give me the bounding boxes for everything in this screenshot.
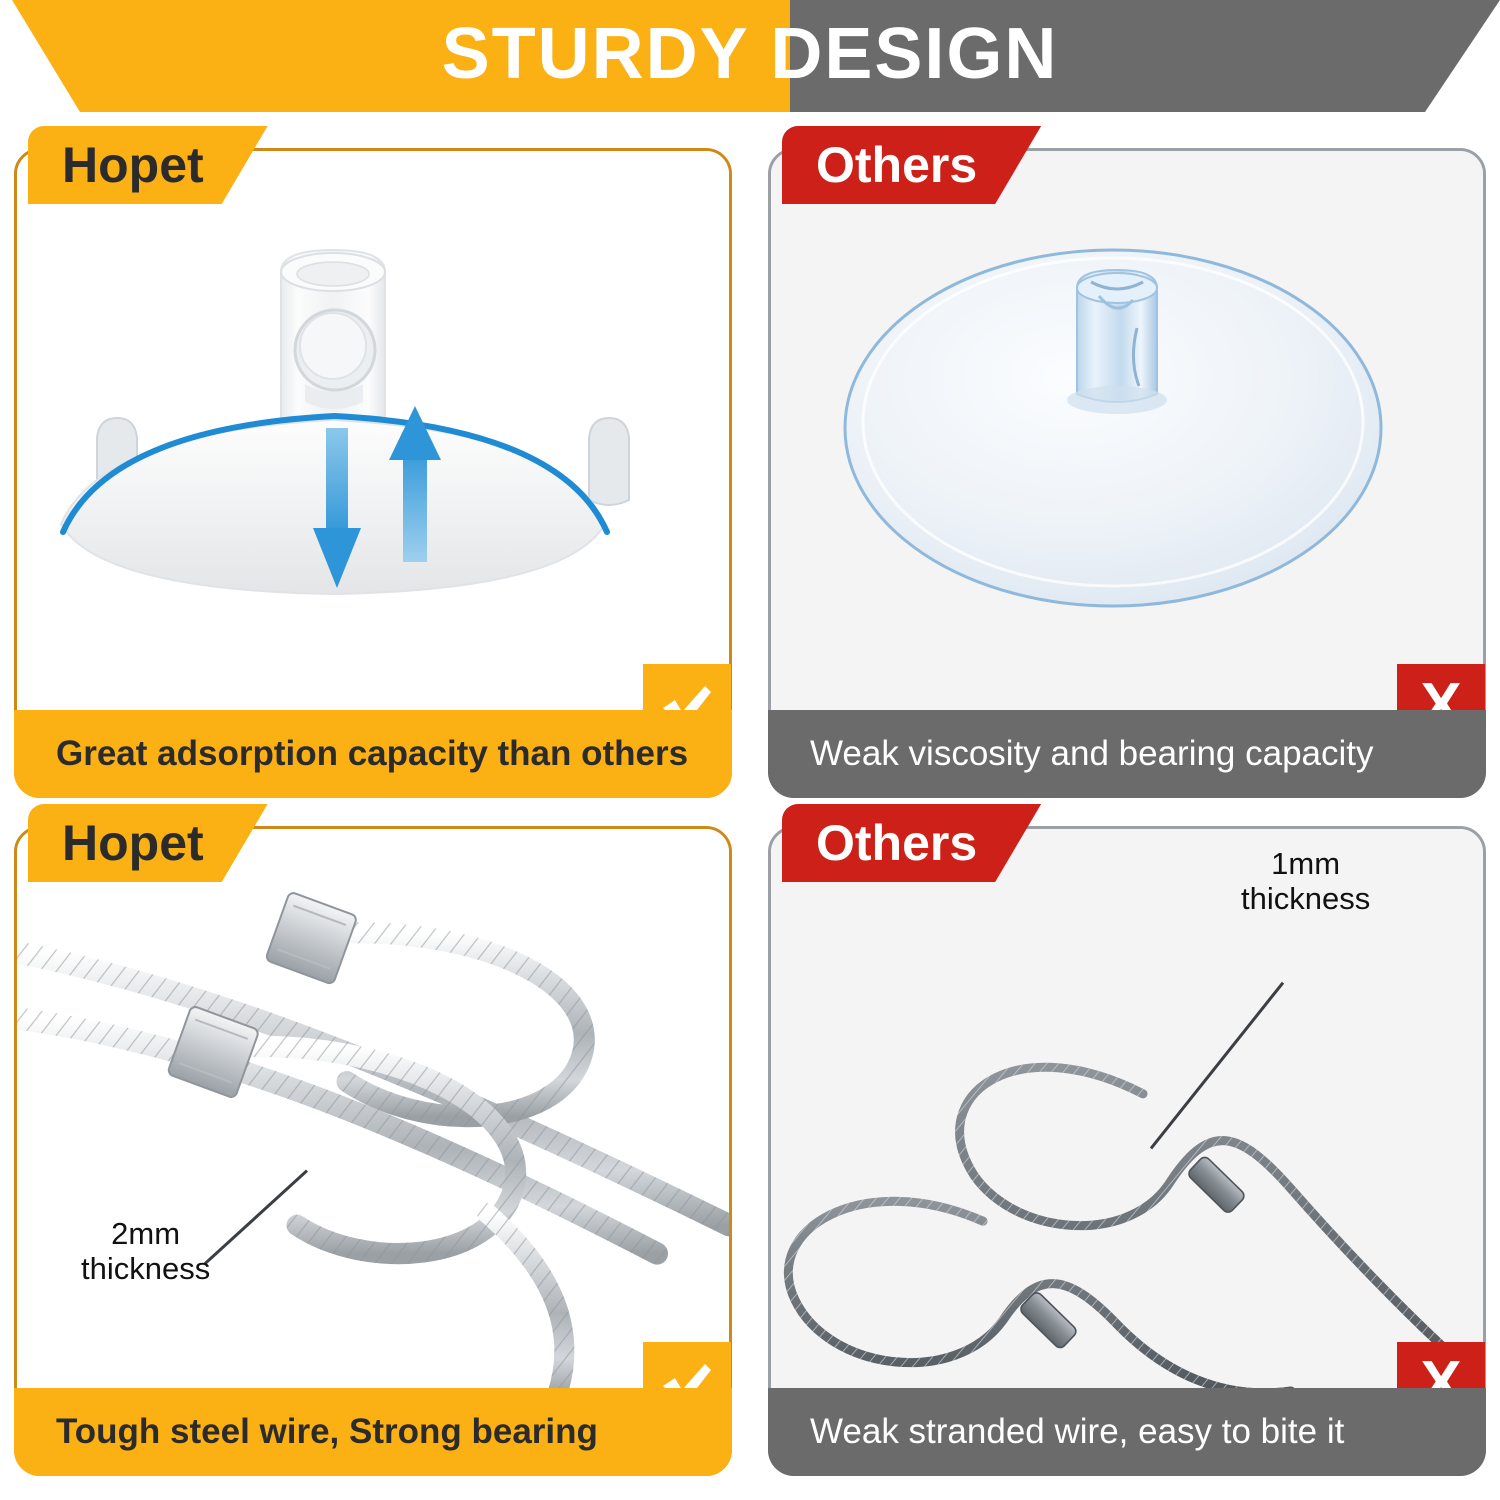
- panel-others-stranded-wire: 1mm thickness Others X Weak stranded wir…: [768, 826, 1486, 1476]
- panel-caption-text: Weak viscosity and bearing capacity: [810, 734, 1374, 774]
- panel-caption: Tough steel wire, Strong bearing: [14, 1388, 732, 1476]
- thin-stranded-wire-illustration: [771, 829, 1483, 1391]
- brand-tab-label: Hopet: [62, 818, 204, 868]
- panel-caption: Weak stranded wire, easy to bite it: [768, 1388, 1486, 1476]
- annotation-line-2: thickness: [81, 1252, 210, 1287]
- panel-others-suction-cup: Others X Weak viscosity and bearing capa…: [768, 148, 1486, 798]
- infographic-root: STURDY DESIGN: [0, 0, 1500, 1500]
- comparison-grid: Hopet Great adsorption capacity than oth…: [14, 148, 1486, 1488]
- panel-caption: Great adsorption capacity than others: [14, 710, 732, 798]
- annotation-line-1: 1mm: [1241, 847, 1370, 882]
- brand-tab-label: Hopet: [62, 140, 204, 190]
- brand-tab-label: Others: [816, 818, 977, 868]
- panel-caption-text: Weak stranded wire, easy to bite it: [810, 1412, 1344, 1452]
- panel-caption: Weak viscosity and bearing capacity: [768, 710, 1486, 798]
- annotation-2mm-thickness: 2mm thickness: [81, 1217, 210, 1286]
- wire-crimp-lower: [1019, 1290, 1079, 1350]
- wire-crimp-upper: [1187, 1155, 1247, 1215]
- suction-cup-flat-disc-illustration: [837, 232, 1417, 632]
- panel-image-area: [771, 151, 1483, 713]
- wire-loop-upper: [960, 1067, 1483, 1383]
- panel-image-area: [17, 151, 729, 713]
- wire-ferrule-upper: [265, 891, 357, 984]
- panel-caption-text: Tough steel wire, Strong bearing: [56, 1412, 598, 1452]
- annotation-1mm-thickness: 1mm thickness: [1241, 847, 1370, 916]
- brand-tab-label: Others: [816, 140, 977, 190]
- braided-steel-wire-illustration: [17, 829, 729, 1391]
- suction-cup-side-view-illustration: [53, 232, 693, 632]
- annotation-line-2: thickness: [1241, 882, 1370, 917]
- page-title: STURDY DESIGN: [0, 0, 1500, 112]
- header-banner: STURDY DESIGN: [0, 0, 1500, 112]
- panel-caption-text: Great adsorption capacity than others: [56, 734, 688, 774]
- panel-image-area: 1mm thickness: [771, 829, 1483, 1391]
- panel-hopet-suction-cup: Hopet Great adsorption capacity than oth…: [14, 148, 732, 798]
- annotation-leader-line: [1151, 983, 1283, 1149]
- wire-strand-trailing: [487, 1213, 564, 1391]
- panel-image-area: 2mm thickness: [17, 829, 729, 1391]
- panel-hopet-steel-wire: 2mm thickness Hopet Tough steel wire, St…: [14, 826, 732, 1476]
- annotation-line-1: 2mm: [81, 1217, 210, 1252]
- disc-center-knob: [1077, 270, 1157, 402]
- cup-side-tab-right: [589, 418, 629, 505]
